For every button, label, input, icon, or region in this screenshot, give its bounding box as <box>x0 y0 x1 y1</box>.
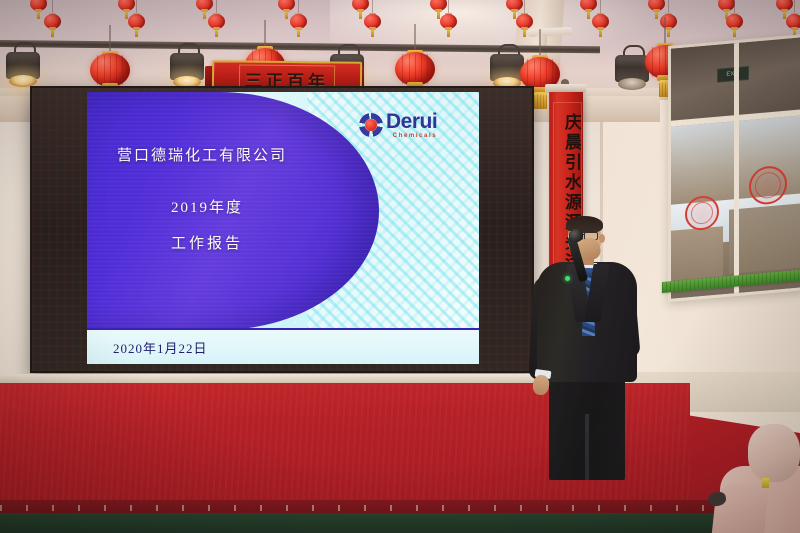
ceiling-lantern <box>290 14 307 34</box>
ceiling-lantern <box>786 14 800 34</box>
logo-wordmark: Derui <box>386 111 437 132</box>
slide-report-line: 工作报告 <box>171 232 243 253</box>
speaker-person <box>527 218 647 478</box>
presentation-slide[interactable]: Derui Chemicals 营口德瑞化工有限公司 2019年度 工作报告 2… <box>87 92 479 364</box>
slide-company-name: 营口德瑞化工有限公司 <box>117 144 349 165</box>
presentation-photo-scene: 三正百年 EXIT 庆晨引水源源头活水 <box>0 0 800 533</box>
logo-subtitle: Chemicals <box>386 133 437 139</box>
ceiling-lantern <box>440 14 457 34</box>
slide-date: 2020年1月22日 <box>113 338 208 357</box>
ceiling-lantern <box>128 14 145 34</box>
ceiling-lantern <box>208 14 225 34</box>
led-display-panel[interactable]: Derui Chemicals 营口德瑞化工有限公司 2019年度 工作报告 2… <box>30 86 534 373</box>
ceiling-lantern <box>660 14 677 34</box>
speaker-leg-gap <box>585 414 589 480</box>
ceiling-lantern <box>726 14 743 34</box>
foreground-person-head <box>748 424 800 482</box>
stage-edge-studs <box>0 505 730 511</box>
foreground-person-badge <box>762 478 769 488</box>
window-building-near <box>671 226 723 281</box>
derui-logo: Derui Chemicals <box>359 108 469 142</box>
foreground-audience-person <box>714 430 800 533</box>
window-building-far <box>729 203 800 273</box>
right-wall-window: EXIT <box>668 34 800 302</box>
slide-year-line: 2019年度 <box>171 196 243 217</box>
microphone-led-indicator <box>565 276 570 281</box>
speaker-ear <box>599 234 605 243</box>
exit-sign-icon: EXIT <box>717 66 749 83</box>
speaker-left-hand <box>532 374 551 396</box>
derui-mark-icon <box>359 113 383 137</box>
ceiling-lantern <box>364 14 381 34</box>
ceiling-lantern <box>44 14 61 34</box>
ceiling-lantern <box>592 14 609 34</box>
window-mullion <box>734 43 739 293</box>
ceiling-lantern <box>516 14 533 34</box>
stage-green-skirt <box>0 513 750 533</box>
